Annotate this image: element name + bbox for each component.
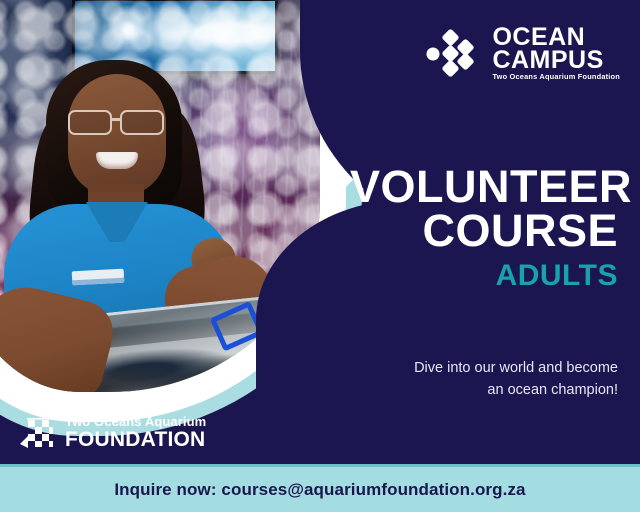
headline-line1: VOLUNTEER	[350, 165, 618, 209]
tagline-line2: an ocean champion!	[346, 379, 618, 401]
ocean-campus-wordmark: OCEAN CAMPUS Two Oceans Aquarium Foundat…	[492, 26, 620, 81]
poster: OCEAN CAMPUS Two Oceans Aquarium Foundat…	[0, 0, 640, 512]
ocean-campus-line2: CAMPUS	[492, 49, 620, 72]
foundation-wordmark: Two Oceans Aquarium FOUNDATION	[65, 415, 206, 450]
tagline: Dive into our world and become an ocean …	[346, 357, 618, 402]
two-oceans-foundation-logo: Two Oceans Aquarium FOUNDATION	[18, 414, 206, 450]
ocean-campus-diamond-mark	[426, 29, 482, 77]
subject-smile	[96, 152, 138, 169]
foundation-line-top: Two Oceans Aquarium	[65, 415, 206, 428]
footer-bar: Inquire now: courses@aquariumfoundation.…	[0, 467, 640, 512]
glasses-lens-right	[120, 110, 164, 135]
subject-glasses	[66, 110, 166, 131]
subject-face	[68, 74, 166, 196]
headline-line2: COURSE	[350, 209, 618, 253]
glasses-lens-left	[68, 110, 112, 135]
checkered-wave-mark	[18, 414, 56, 450]
foundation-line-bottom: FOUNDATION	[65, 429, 206, 450]
headline-kicker-adults: ADULTS	[350, 253, 618, 298]
ocean-campus-subtitle: Two Oceans Aquarium Foundation	[492, 74, 620, 81]
tagline-line1: Dive into our world and become	[346, 357, 618, 379]
headline: VOLUNTEER COURSE ADULTS	[350, 165, 618, 298]
footer-inquire-text[interactable]: Inquire now: courses@aquariumfoundation.…	[114, 480, 525, 500]
ocean-campus-logo: OCEAN CAMPUS Two Oceans Aquarium Foundat…	[426, 26, 620, 81]
subject-name-badge	[72, 269, 125, 286]
content-column: OCEAN CAMPUS Two Oceans Aquarium Foundat…	[340, 0, 640, 470]
